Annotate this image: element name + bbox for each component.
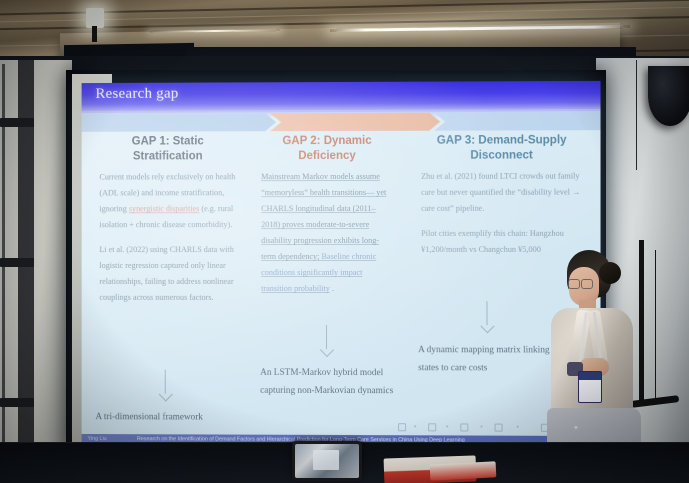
- gap-2-p1-seg-1: Mainstream Markov models assume “memoryl…: [261, 172, 386, 261]
- recording-smartphone[interactable]: [292, 441, 362, 481]
- toolbar-slide-icon[interactable]: [460, 423, 468, 431]
- column-gap-3: GAP 3: Demand-Supply Disconnect Zhu et a…: [415, 133, 588, 267]
- ceiling: [0, 0, 689, 62]
- wall-bracket-top: [0, 118, 34, 127]
- slide-title: Research gap: [95, 86, 178, 103]
- gap-1-conclusion: A tri-dimensional framework: [95, 408, 274, 427]
- chevron-gap-1: [82, 113, 276, 132]
- gap-2-conclusion: An LSTM-Markov hybrid model capturing no…: [260, 364, 396, 401]
- toolbar-sep-2: [446, 425, 448, 427]
- gap-3-paragraph-1: Zhu et al. (2021) found LTCI crowds out …: [421, 169, 582, 217]
- gap-2-paragraph-1: Mainstream Markov models assume “memoryl…: [261, 169, 393, 297]
- skirt-star-1: ✦: [573, 424, 579, 432]
- presenter-hair-bun: [599, 262, 621, 284]
- microphone-cord: [655, 250, 656, 400]
- toolbar-zoom-icon[interactable]: [495, 424, 503, 432]
- smartphone-preview: [313, 450, 339, 470]
- gap-1-paragraph-1: Current models rely exclusively on healt…: [99, 170, 236, 234]
- chevron-gap-3: [434, 112, 600, 131]
- gap-2-p1-seg-3: .: [330, 284, 334, 293]
- gap-1-paragraph-2: Li et al. (2022) using CHARLS data with …: [99, 242, 236, 306]
- spotlight-arm: [92, 26, 97, 42]
- wall-bracket-bottom: [0, 398, 34, 407]
- down-arrow-icon-gap-1: [159, 370, 173, 404]
- column-gap-1: GAP 1: Static Stratification Current mod…: [93, 134, 242, 315]
- toolbar-sep-1: [414, 425, 416, 427]
- smartphone-screen[interactable]: [295, 444, 359, 478]
- spotlight-icon: [86, 8, 104, 28]
- conference-room-photo: Research gap GAP 1: Static Stratificatio…: [0, 0, 689, 483]
- toolbar-sep-4: [517, 426, 519, 428]
- presentation-slide: Research gap GAP 1: Static Stratificatio…: [82, 81, 601, 451]
- gap-2-heading: GAP 2: Dynamic Deficiency: [261, 134, 393, 164]
- gap-1-heading: GAP 1: Static Stratification: [99, 134, 236, 164]
- conference-badge: [578, 371, 602, 403]
- column-gap-2: GAP 2: Dynamic Deficiency Mainstream Mar…: [255, 134, 399, 307]
- toolbar-pen-icon[interactable]: [398, 423, 406, 431]
- eyeglasses-icon: [568, 279, 594, 287]
- gap-1-p1-highlight: synergistic disparities: [129, 205, 199, 214]
- wall-bracket-mid: [0, 258, 34, 267]
- down-arrow-icon-gap-3: [480, 301, 494, 335]
- down-arrow-icon-gap-2: [320, 325, 334, 359]
- gap-3-heading: GAP 3: Demand-Supply Disconnect: [421, 133, 582, 163]
- chevron-gap-2: [270, 113, 440, 132]
- speaker-icon: [648, 66, 689, 126]
- toolbar-sep-3: [480, 426, 482, 428]
- chevron-banner: [82, 112, 601, 132]
- toolbar-laser-icon[interactable]: [428, 423, 436, 431]
- speaker-cord: [636, 60, 637, 170]
